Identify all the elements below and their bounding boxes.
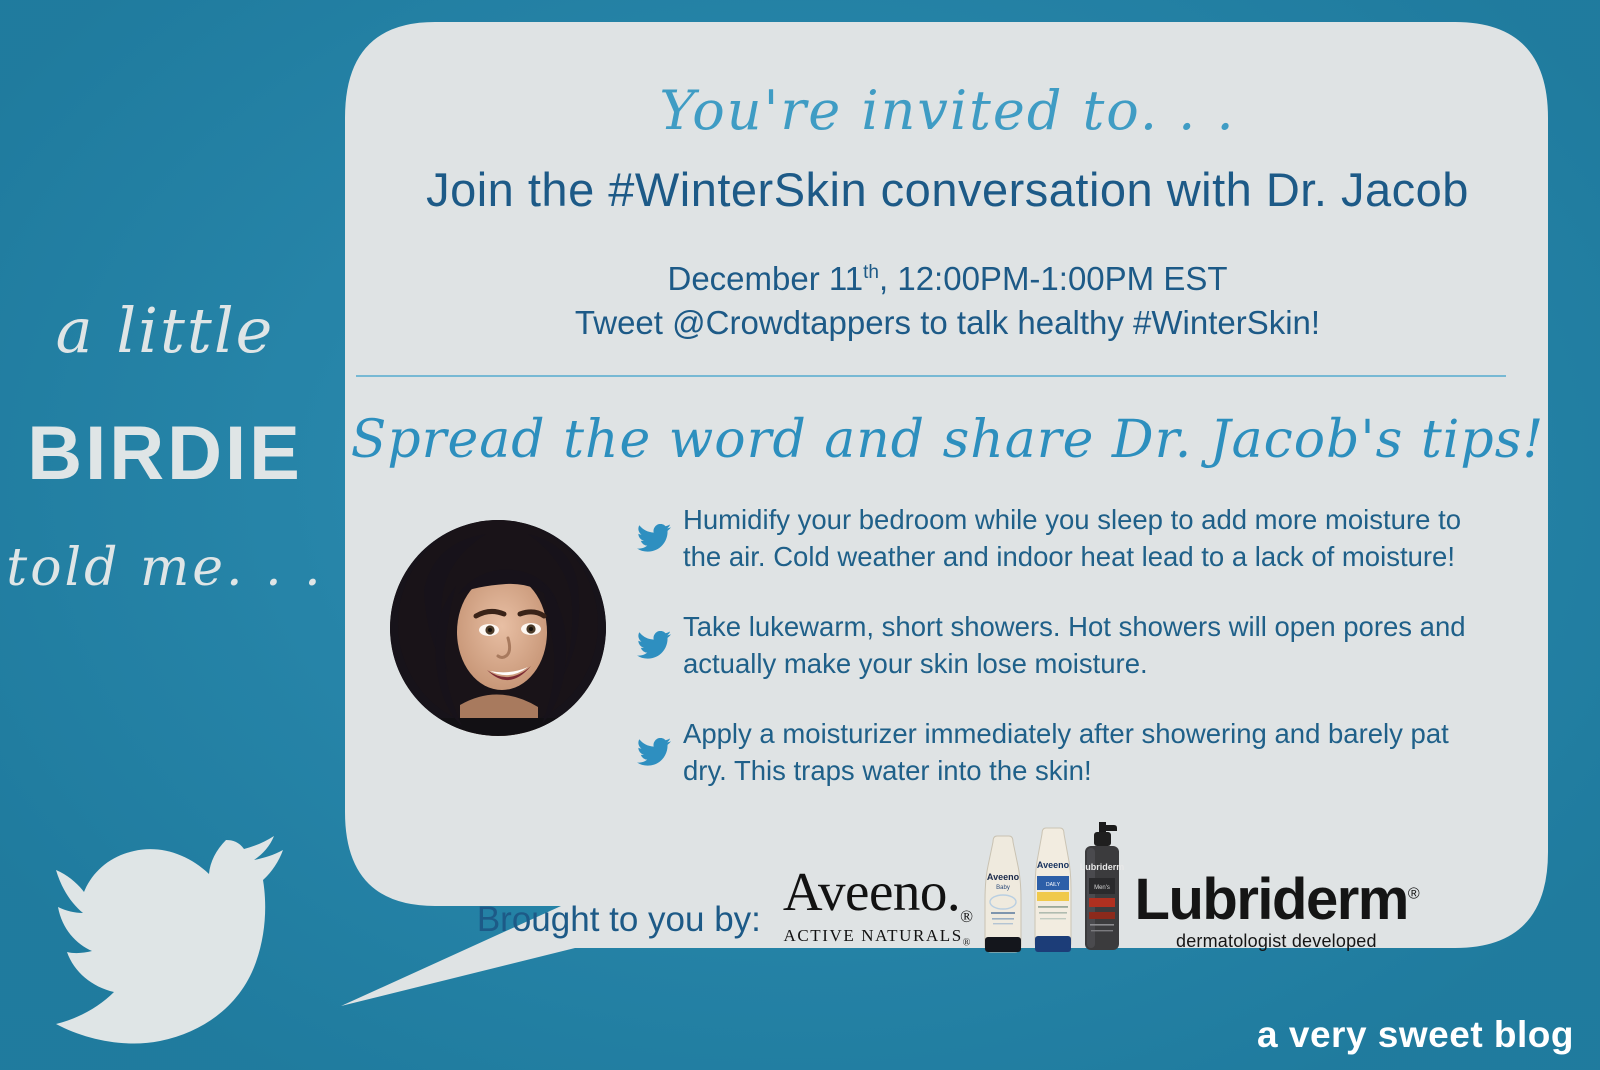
list-item: Humidify your bedroom while you sleep to… [637,502,1467,575]
blog-watermark: a very sweet blog [1257,1014,1574,1056]
product-bottle-lubriderm: Lubriderm Men's [1079,822,1125,954]
svg-text:Aveeno: Aveeno [1036,860,1069,870]
invite-headline: Join the #WinterSkin conversation with D… [345,164,1550,216]
invite-date-ordinal: th [863,262,879,283]
product-bottle-aveeno: Aveeno DAILY [1030,826,1076,954]
invite-date-line: December 11th, 12:00PM-1:00PM EST [345,257,1550,301]
tagline-line-told-me: told me. . . [0,542,330,594]
tip-text: Humidify your bedroom while you sleep to… [683,502,1467,575]
aveeno-tagline: ACTIVE NATURALS® [783,927,973,948]
invite-script-intro: You're invited to. . . [345,84,1550,138]
svg-text:Lubriderm: Lubriderm [1079,862,1124,872]
product-bottle-aveeno-baby: Aveeno Baby [979,834,1027,954]
tips-heading: Spread the word and share Dr. Jacob's ti… [345,414,1550,466]
invite-date-prefix: December 11 [668,260,864,297]
svg-text:Baby: Baby [996,885,1010,891]
aveeno-logo: Aveeno.® ACTIVE NATURALS® [783,864,973,954]
aveeno-registered: ® [960,907,972,926]
tip-text: Take lukewarm, short showers. Hot shower… [683,609,1467,682]
aveeno-wordmark: Aveeno.® [783,864,973,925]
list-item: Take lukewarm, short showers. Hot shower… [637,609,1467,682]
twitter-bird-bullet-icon [637,609,683,659]
svg-text:DAILY: DAILY [1046,882,1061,888]
brought-to-you-by-label: Brought to you by: [477,900,761,954]
sponsor-row: Brought to you by: Aveeno.® ACTIVE NATUR… [345,822,1550,954]
lubriderm-tagline: dermatologist developed [1135,932,1419,950]
product-bottles: Aveeno Baby Aveeno DAILY [979,822,1125,954]
svg-text:Aveeno: Aveeno [986,872,1019,882]
invite-card-content: You're invited to. . . Join the #WinterS… [345,22,1550,947]
lubriderm-wordmark: Lubriderm® [1135,871,1419,929]
aveeno-name: Aveeno [783,861,947,922]
svg-text:Men's: Men's [1094,885,1110,891]
tagline-line-birdie: BIRDIE [0,416,330,492]
invite-date-suffix: , 12:00PM-1:00PM EST [879,260,1227,297]
tip-text: Apply a moisturizer immediately after sh… [683,716,1467,789]
lubriderm-registered: ® [1408,886,1418,903]
tips-list: Humidify your bedroom while you sleep to… [637,502,1467,823]
list-item: Apply a moisturizer immediately after sh… [637,716,1467,789]
aveeno-tagline-text: ACTIVE NATURALS [783,926,962,945]
left-tagline-block: a little BIRDIE told me. . . [0,300,330,594]
aveeno-tagline-registered: ® [963,937,972,948]
twitter-bird-icon [20,812,350,1052]
tagline-line-a-little: a little [0,300,330,362]
avatar [390,520,606,736]
poster-image: a little BIRDIE told me. . . You're invi… [0,0,1600,1070]
section-divider [356,375,1506,377]
lubriderm-name: Lubriderm [1135,867,1408,932]
twitter-bird-bullet-icon [637,716,683,766]
invite-tweet-line: Tweet @Crowdtappers to talk healthy #Win… [345,301,1550,345]
twitter-bird-bullet-icon [637,502,683,552]
aveeno-period: . [947,861,960,922]
invite-details: December 11th, 12:00PM-1:00PM EST Tweet … [345,257,1550,344]
lubriderm-logo: Lubriderm® dermatologist developed [1135,871,1419,954]
